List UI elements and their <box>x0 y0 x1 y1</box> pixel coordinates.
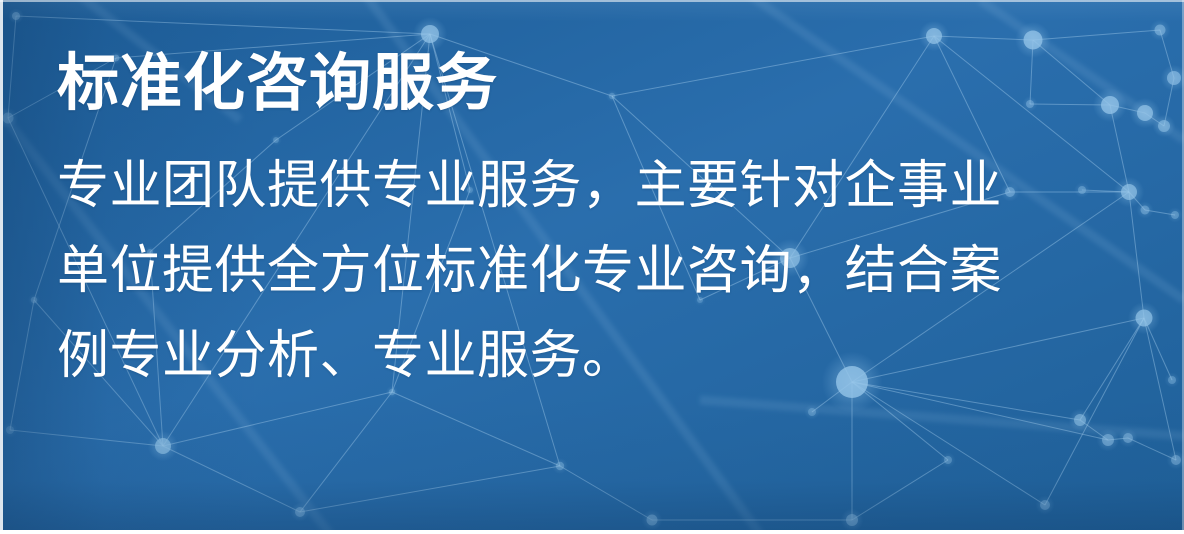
banner-description: 专业团队提供专业服务，主要针对企事业 单位提供全方位标准化专业咨询，结合案 例专… <box>57 144 1147 399</box>
page-title: 标准化咨询服务 <box>57 46 1147 122</box>
promo-banner: 标准化咨询服务 专业团队提供专业服务，主要针对企事业 单位提供全方位标准化专业咨… <box>0 0 1184 534</box>
description-line-3: 例专业分析、专业服务。 <box>57 314 1147 399</box>
description-line-2: 单位提供全方位标准化专业咨询，结合案 <box>57 229 1147 314</box>
banner-content: 标准化咨询服务 专业团队提供专业服务，主要针对企事业 单位提供全方位标准化专业咨… <box>57 46 1147 399</box>
description-line-1: 专业团队提供专业服务，主要针对企事业 <box>57 144 1147 229</box>
